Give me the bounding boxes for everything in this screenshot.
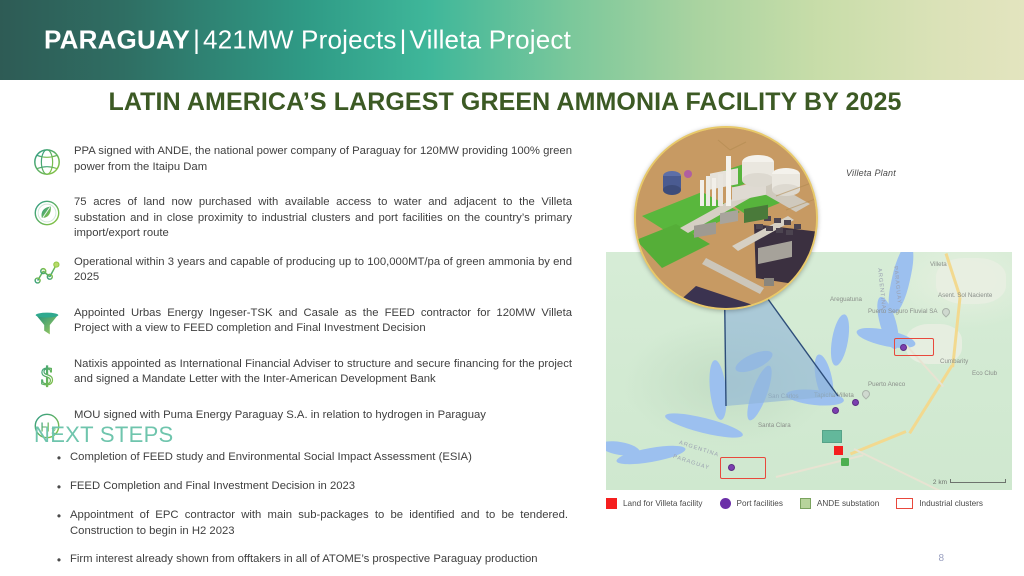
map-place-label: Puerto Aneco	[868, 381, 905, 388]
list-item: Operational within 3 years and capable o…	[24, 253, 572, 293]
legend-item: ANDE substation	[800, 498, 879, 509]
map-industrial-cluster	[720, 457, 766, 479]
plant-inset-label: Villeta Plant	[846, 168, 896, 178]
page-title: LATIN AMERICA’S LARGEST GREEN AMMONIA FA…	[0, 88, 1010, 117]
header-projects: 421MW Projects	[203, 25, 397, 55]
map-place-label: San Carlos	[768, 393, 799, 400]
legend-red-outline-icon	[896, 498, 913, 509]
legend-green-square-icon	[800, 498, 811, 509]
map-place-label: Santa Clara	[758, 422, 791, 429]
legend-purple-circle-icon	[720, 498, 731, 509]
list-item: • Completion of FEED study and Environme…	[48, 450, 568, 466]
map-place-label: Puerto Seguro Fluvial SA	[868, 308, 937, 315]
next-step-text: FEED Completion and Final Investment Dec…	[70, 479, 568, 495]
next-step-text: Appointment of EPC contractor with main …	[70, 508, 568, 539]
page-number: 8	[938, 553, 944, 564]
feature-text: 75 acres of land now purchased with avai…	[70, 193, 572, 242]
map-port-facility	[900, 344, 907, 351]
funnel-icon	[24, 304, 70, 344]
header-separator-1: |	[190, 25, 203, 55]
list-item: $ Natixis appointed as International Fin…	[24, 355, 572, 395]
map-scale-label: 2 km	[933, 479, 947, 486]
legend-item: Port facilities	[720, 498, 783, 509]
next-steps-list: • Completion of FEED study and Environme…	[48, 450, 568, 576]
next-step-text: Firm interest already shown from offtake…	[70, 552, 568, 568]
map-place-label: Villeta	[930, 261, 947, 268]
list-item: 75 acres of land now purchased with avai…	[24, 193, 572, 242]
plant-render-svg	[636, 128, 818, 310]
feature-text: Operational within 3 years and capable o…	[70, 253, 572, 286]
map-ande-substation	[822, 430, 842, 443]
map-villeta-land	[834, 446, 843, 455]
map-poi-marker	[841, 458, 849, 466]
header-separator-2: |	[397, 25, 410, 55]
feature-text: PPA signed with ANDE, the national power…	[70, 142, 572, 175]
feature-text: Appointed Urbas Energy Ingeser-TSK and C…	[70, 304, 572, 337]
globe-icon	[24, 142, 70, 182]
next-steps-heading: NEXT STEPS	[34, 422, 174, 448]
bullet-glyph: •	[48, 508, 70, 524]
list-item: • Firm interest already shown from offta…	[48, 552, 568, 568]
bullet-glyph: •	[48, 479, 70, 495]
bullet-glyph: •	[48, 552, 70, 568]
legend-item: Land for Villeta facility	[606, 498, 703, 509]
map-port-facility	[852, 399, 859, 406]
svg-text:$: $	[41, 362, 54, 390]
legend-label: ANDE substation	[817, 499, 879, 508]
list-item: • FEED Completion and Final Investment D…	[48, 479, 568, 495]
header-title: PARAGUAY|421MW Projects|Villeta Project	[44, 25, 571, 56]
legend-item: Industrial clusters	[896, 498, 983, 509]
slide-header-banner: PARAGUAY|421MW Projects|Villeta Project	[0, 0, 1024, 80]
feature-text: Natixis appointed as International Finan…	[70, 355, 572, 388]
legend-label: Land for Villeta facility	[623, 499, 703, 508]
map-legend: Land for Villeta facility Port facilitie…	[606, 494, 1016, 512]
leaf-circle-icon	[24, 193, 70, 233]
map-port-facility	[728, 464, 735, 471]
next-step-text: Completion of FEED study and Environment…	[70, 450, 568, 466]
header-project-name: Villeta Project	[410, 25, 572, 55]
villeta-plant-render[interactable]	[634, 126, 818, 310]
slide: PARAGUAY|421MW Projects|Villeta Project …	[0, 0, 1024, 576]
dollar-icon: $	[24, 355, 70, 395]
list-item: Appointed Urbas Energy Ingeser-TSK and C…	[24, 304, 572, 344]
map-scale-bar: 2 km	[933, 479, 1006, 486]
map-place-label: Cumbarity	[940, 358, 968, 365]
map-place-label: Areguatuna	[830, 296, 862, 303]
map-place-label: Tapicha Villeta	[814, 392, 854, 399]
map-port-facility	[832, 407, 839, 414]
list-item: • Appointment of EPC contractor with mai…	[48, 508, 568, 539]
legend-red-square-icon	[606, 498, 617, 509]
map-place-label: Asent. Sol Naciente	[938, 292, 992, 299]
feature-text: MOU signed with Puma Energy Paraguay S.A…	[70, 406, 572, 424]
molecule-network-icon	[24, 253, 70, 293]
feature-list: PPA signed with ANDE, the national power…	[24, 142, 572, 457]
legend-label: Industrial clusters	[919, 499, 983, 508]
header-country: PARAGUAY	[44, 25, 190, 55]
bullet-glyph: •	[48, 450, 70, 466]
map-place-label: Eco Club	[972, 370, 997, 377]
list-item: PPA signed with ANDE, the national power…	[24, 142, 572, 182]
legend-label: Port facilities	[737, 499, 783, 508]
map-scale-line	[950, 482, 1006, 483]
